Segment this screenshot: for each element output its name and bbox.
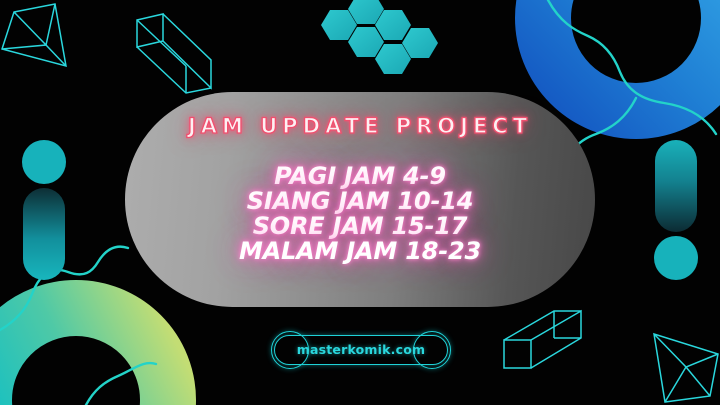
wireframe-gem-bottom-right	[654, 334, 718, 402]
footer-url-pill[interactable]: masterkomik.com	[274, 335, 448, 365]
hexagon-cluster	[321, 0, 438, 74]
letter-i-mark-left	[22, 140, 66, 280]
footer-url-text[interactable]: masterkomik.com	[275, 336, 447, 364]
i-mark-dot	[22, 140, 66, 184]
squiggle-bottom-inner	[86, 363, 156, 405]
exclamation-dot	[654, 236, 698, 280]
blue-ring-top-right	[543, 0, 720, 111]
i-mark-bar	[23, 188, 65, 280]
exclamation-mark-right	[654, 140, 698, 280]
schedule-line-pagi: PAGI JAM 4-9	[125, 164, 595, 189]
schedule-list: PAGI JAM 4-9 SIANG JAM 10-14 SORE JAM 15…	[125, 164, 595, 264]
poster-headline: JAM UPDATE PROJECT	[125, 114, 595, 138]
wireframe-gem-top-left	[2, 4, 66, 66]
exclamation-bar	[655, 140, 697, 232]
schedule-line-malam: MALAM JAM 18-23	[125, 239, 595, 264]
wireframe-bar-bottom-right	[504, 311, 581, 368]
teal-green-ring-bottom-left	[0, 308, 168, 405]
poster-canvas: JAM UPDATE PROJECT PAGI JAM 4-9 SIANG JA…	[0, 0, 720, 405]
wireframe-bar-top-left	[137, 14, 211, 93]
schedule-line-siang: SIANG JAM 10-14	[125, 189, 595, 214]
central-grey-panel: JAM UPDATE PROJECT PAGI JAM 4-9 SIANG JA…	[125, 92, 595, 307]
schedule-line-sore: SORE JAM 15-17	[125, 214, 595, 239]
